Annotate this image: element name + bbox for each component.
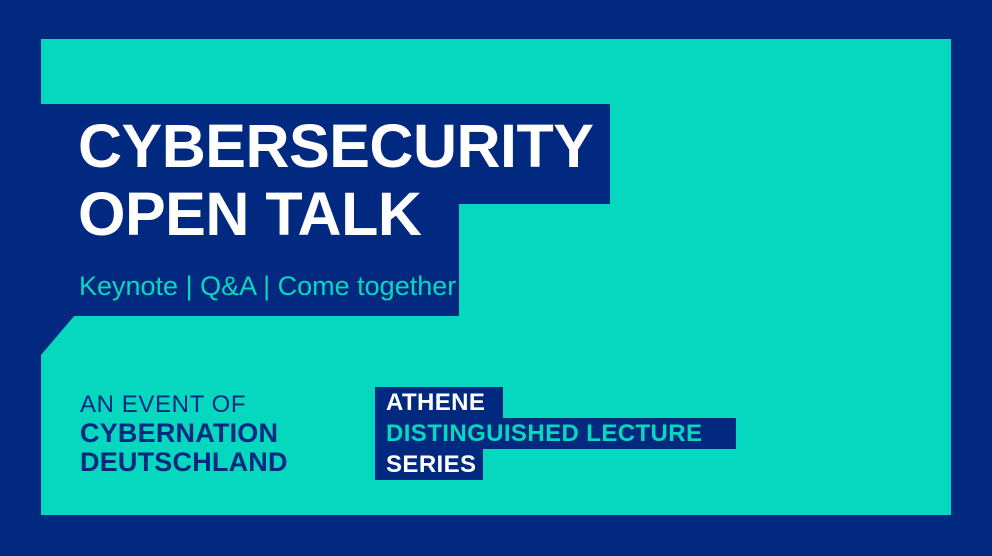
- event-poster: CYBERSECURITY OPEN TALK Keynote | Q&A | …: [0, 0, 992, 556]
- headline-line-2: OPEN TALK: [78, 180, 678, 248]
- credit-eyebrow: AN EVENT OF: [80, 390, 288, 419]
- organizer-credit: AN EVENT OF CYBERNATION DEUTSCHLAND: [80, 390, 288, 477]
- page-title: CYBERSECURITY OPEN TALK: [78, 112, 678, 248]
- credit-org-line-1: CYBERNATION: [80, 419, 288, 448]
- credit-org-line-2: DEUTSCHLAND: [80, 448, 288, 477]
- logo-line-series: SERIES: [375, 449, 483, 480]
- headline-line-1: CYBERSECURITY: [78, 112, 593, 180]
- athene-lecture-series-logo: ATHENE DISTINGUISHED LECTURE SERIES: [375, 387, 736, 480]
- headline-subtitle: Keynote | Q&A | Come together: [79, 269, 456, 303]
- logo-line-athene: ATHENE: [375, 387, 503, 418]
- logo-line-distinguished-lecture: DISTINGUISHED LECTURE: [375, 418, 736, 449]
